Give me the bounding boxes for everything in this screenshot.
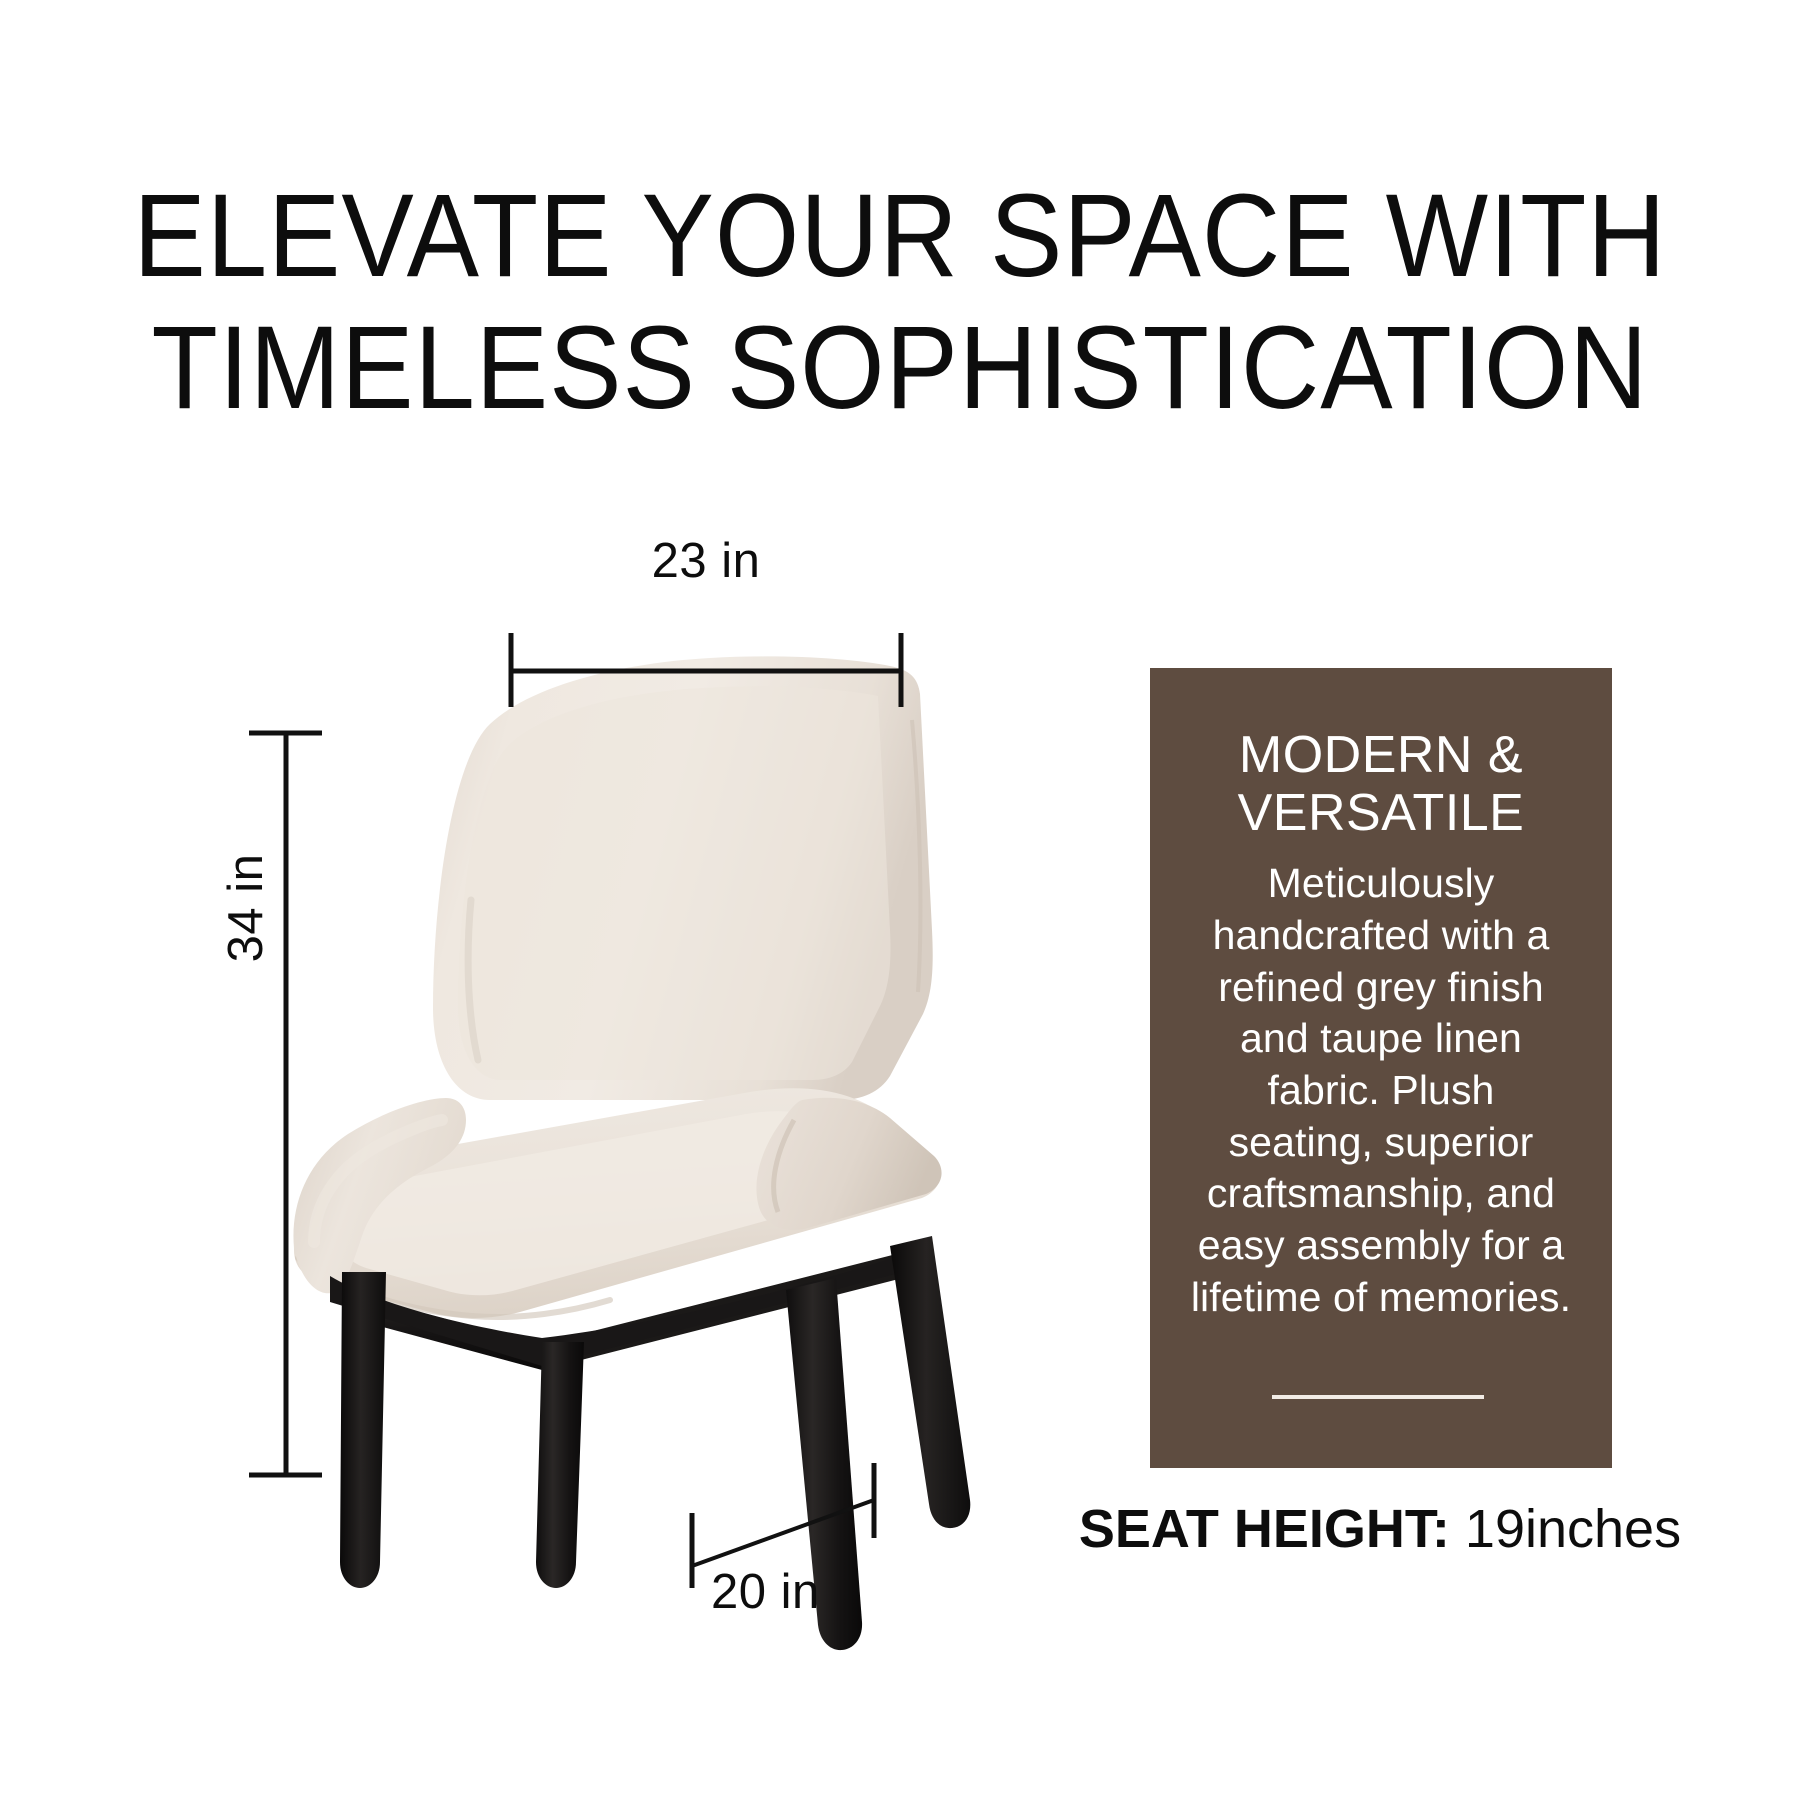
feature-panel-title: MODERN & VERSATILE [1190,726,1572,842]
seat-height-label: SEAT HEIGHT: [1079,1499,1450,1559]
feature-panel-divider [1272,1395,1484,1399]
page-title: ELEVATE YOUR SPACE WITH TIMELESS SOPHIST… [72,170,1728,434]
seat-height-value: 19inches [1465,1499,1681,1559]
headline-line-2: TIMELESS SOPHISTICATION [72,302,1728,434]
product-infographic-page: ELEVATE YOUR SPACE WITH TIMELESS SOPHIST… [0,0,1800,1800]
dimension-depth-label: 20 in [711,1564,931,1620]
dimension-height-label: 34 in [218,798,274,1018]
chair-svg [190,600,980,1610]
headline-line-1: ELEVATE YOUR SPACE WITH [72,170,1728,302]
chair-back [433,656,933,1100]
feature-panel: MODERN & VERSATILE Meticulously handcraf… [1150,668,1612,1468]
seat-height-row: SEAT HEIGHT: 19inches [1060,1498,1700,1560]
chair-illustration [190,600,980,1610]
dimension-width-label: 23 in [511,533,901,589]
feature-panel-body: Meticulously handcrafted with a refined … [1190,858,1572,1323]
